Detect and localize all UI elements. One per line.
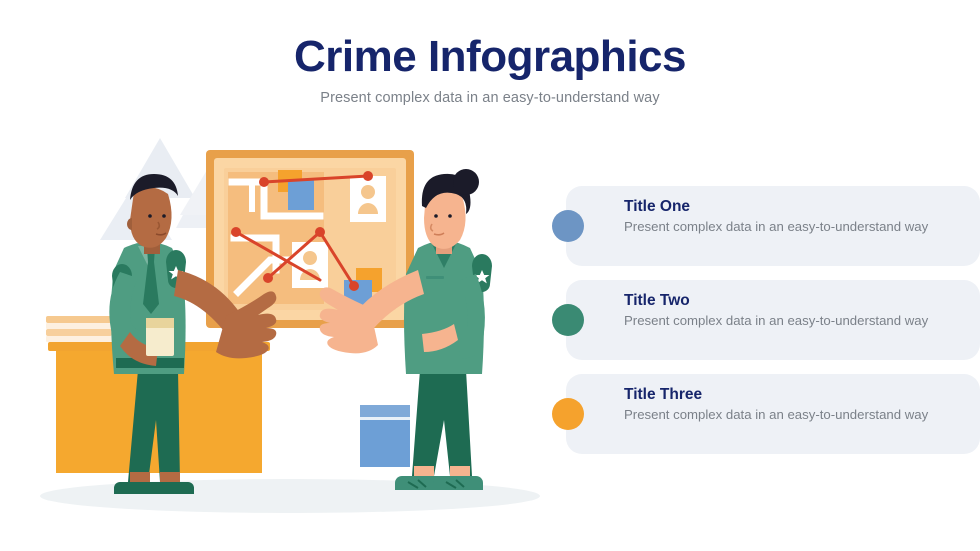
detectives-evidence-board-illustration — [20, 120, 560, 540]
info-cards-list: Title One Present complex data in an eas… — [566, 186, 980, 468]
sticky-note-blue-1 — [288, 180, 314, 210]
header: Crime Infographics Present complex data … — [0, 34, 980, 106]
card-title: Title Three — [624, 385, 962, 404]
card-title: Title Two — [624, 291, 962, 310]
page-title: Crime Infographics — [0, 34, 980, 80]
bullet-circle-blue — [552, 210, 584, 242]
storage-box — [360, 405, 410, 467]
paper-stack — [46, 316, 112, 342]
infographic-slide: Crime Infographics Present complex data … — [0, 0, 980, 551]
photo-card-1 — [350, 176, 386, 222]
card-description: Present complex data in an easy-to-under… — [624, 406, 949, 425]
notepad — [146, 318, 174, 356]
card-description: Present complex data in an easy-to-under… — [624, 312, 949, 331]
photo-card-2 — [292, 242, 328, 288]
card-title: Title One — [624, 197, 962, 216]
bullet-circle-green — [552, 304, 584, 336]
info-card-3[interactable]: Title Three Present complex data in an e… — [566, 374, 980, 454]
info-card-2[interactable]: Title Two Present complex data in an eas… — [566, 280, 980, 360]
info-card-1[interactable]: Title One Present complex data in an eas… — [566, 186, 980, 266]
page-subtitle: Present complex data in an easy-to-under… — [0, 90, 980, 106]
bullet-circle-orange — [552, 398, 584, 430]
card-description: Present complex data in an easy-to-under… — [624, 218, 949, 237]
